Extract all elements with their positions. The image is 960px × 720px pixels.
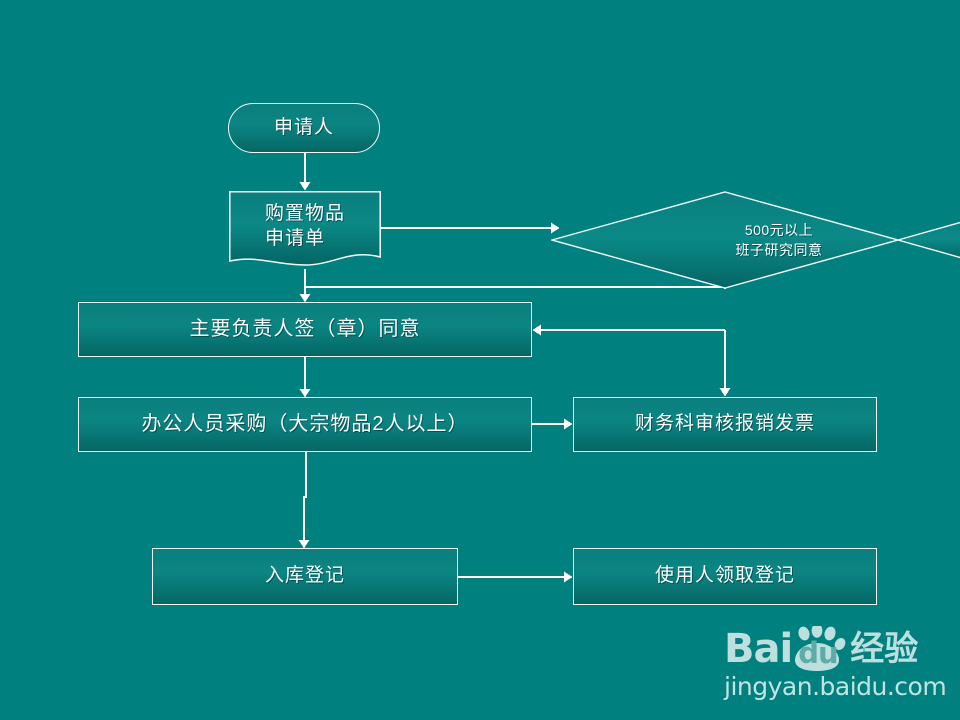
node-chief-approval[interactable]: 主要负责人签（章）同意: [78, 302, 532, 357]
watermark-url: jingyan.baidu.com: [724, 674, 938, 699]
node-receiver-registration[interactable]: 使用人领取登记: [573, 548, 877, 605]
node-purchase-request-form[interactable]: 购置物品 申请单: [229, 191, 381, 269]
edge-applicant-to-form: [300, 153, 311, 191]
watermark-du-text: du: [798, 639, 837, 668]
edge-chief-to-purchase: [300, 357, 311, 397]
node-decision-over-500[interactable]: 500元以上 班子研究同意: [551, 191, 960, 289]
baidu-jingyan-watermark: Bai du 经验 jingyan.baidu.com: [724, 626, 938, 708]
baidu-paw-icon: du: [790, 626, 846, 672]
watermark-bai-text: Bai: [724, 629, 792, 669]
edge-form-to-decision: [381, 223, 560, 234]
edge-form-to-chief: [300, 269, 311, 302]
decision-label-line1: 500元以上: [745, 220, 813, 240]
connector-layer: [0, 0, 960, 720]
decision-label-line2: 班子研究同意: [736, 240, 823, 260]
edge-purchase-to-storage: [299, 452, 310, 548]
edge-purchase-to-finance: [532, 419, 573, 430]
watermark-brand-row: Bai du 经验: [724, 626, 938, 672]
node-storage-registration[interactable]: 入库登记: [152, 548, 458, 605]
node-decision-label: 500元以上 班子研究同意: [551, 191, 960, 289]
node-finance-review[interactable]: 财务科审核报销发票: [573, 397, 877, 452]
node-applicant[interactable]: 申请人: [228, 103, 380, 153]
edge-decision-to-chief: [533, 325, 726, 336]
watermark-jingyan-text: 经验: [850, 632, 918, 666]
node-staff-purchase[interactable]: 办公人员采购（大宗物品2人以上）: [78, 397, 532, 452]
edge-storage-to-receiver: [458, 572, 573, 583]
flowchart-canvas: 申请人 购置物品 申请单: [0, 0, 960, 720]
node-purchase-request-form-label: 购置物品 申请单: [229, 191, 381, 269]
edge-decision-to-finance: [720, 330, 731, 397]
